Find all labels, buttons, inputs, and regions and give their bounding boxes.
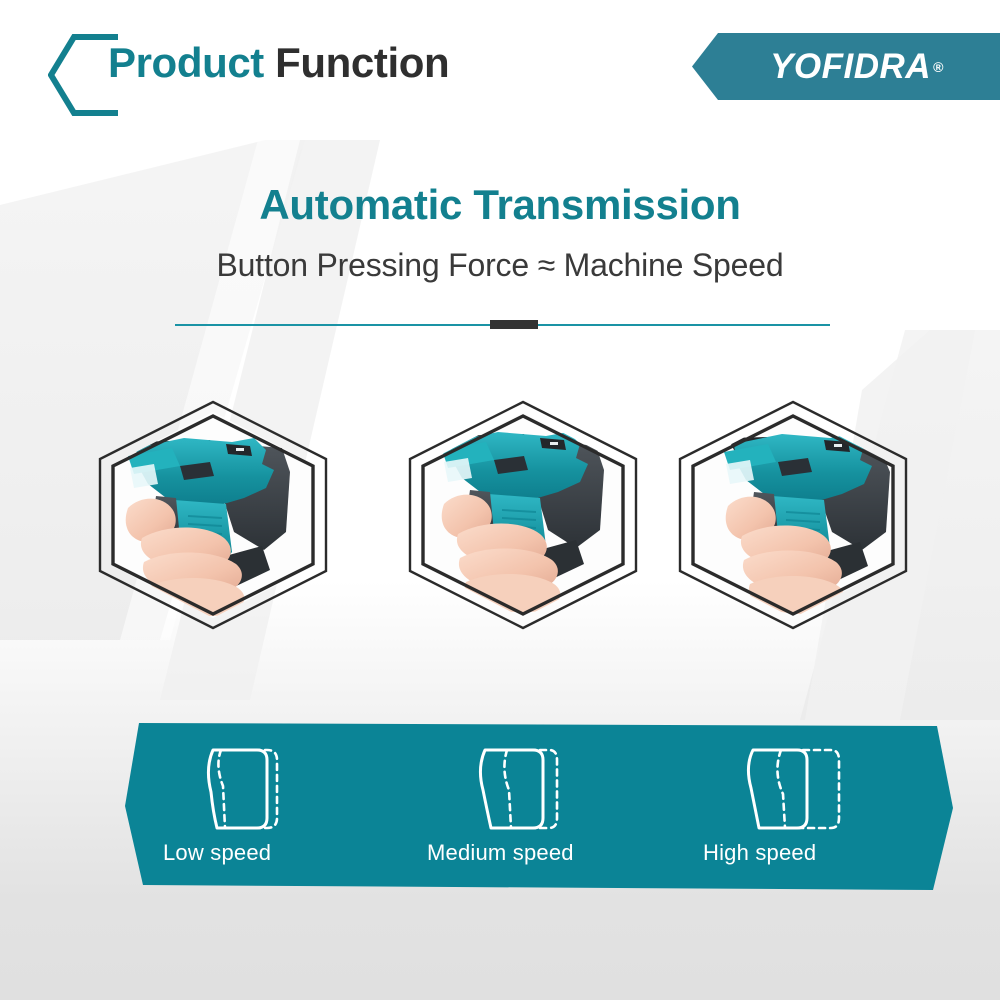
speed-banner: Low speed Medium speed — [125, 722, 953, 892]
speed-banner-items: Low speed Medium speed — [125, 722, 953, 892]
hexagon-frame — [408, 400, 638, 630]
page-title-dark: Function — [275, 39, 449, 86]
speed-label: Medium speed — [425, 840, 645, 866]
gallery-item — [98, 400, 328, 630]
page-title: Product Function — [108, 42, 449, 84]
gallery-row — [0, 398, 1000, 638]
speed-label: High speed — [695, 840, 915, 866]
trigger-high-press-icon — [733, 744, 863, 834]
hero-title: Automatic Transmission — [0, 182, 1000, 228]
speed-step-high: High speed — [695, 744, 915, 884]
speed-step-low: Low speed — [153, 744, 373, 884]
brand-logo-text: YOFIDRA — [770, 47, 931, 87]
product-function-infographic: Product Function YOFIDRA® Automatic Tran… — [0, 0, 1000, 1000]
gallery-item — [408, 400, 638, 630]
hexagon-frame — [678, 400, 908, 630]
hero-subtitle: Button Pressing Force ≈ Machine Speed — [0, 248, 1000, 283]
page-title-accent: Product — [108, 39, 264, 86]
speed-step-medium: Medium speed — [425, 744, 645, 884]
gallery-item — [678, 400, 908, 630]
hexagon-frame — [98, 400, 328, 630]
speed-label: Low speed — [153, 840, 373, 866]
trigger-low-press-icon — [191, 744, 321, 834]
brand-logo: YOFIDRA® — [692, 33, 1000, 100]
registered-trademark-icon: ® — [933, 60, 944, 74]
divider-knob — [490, 320, 538, 329]
trigger-medium-press-icon — [463, 744, 593, 834]
page-header: Product Function YOFIDRA® — [0, 0, 1000, 130]
brand-logo-banner: YOFIDRA® — [692, 33, 1000, 100]
